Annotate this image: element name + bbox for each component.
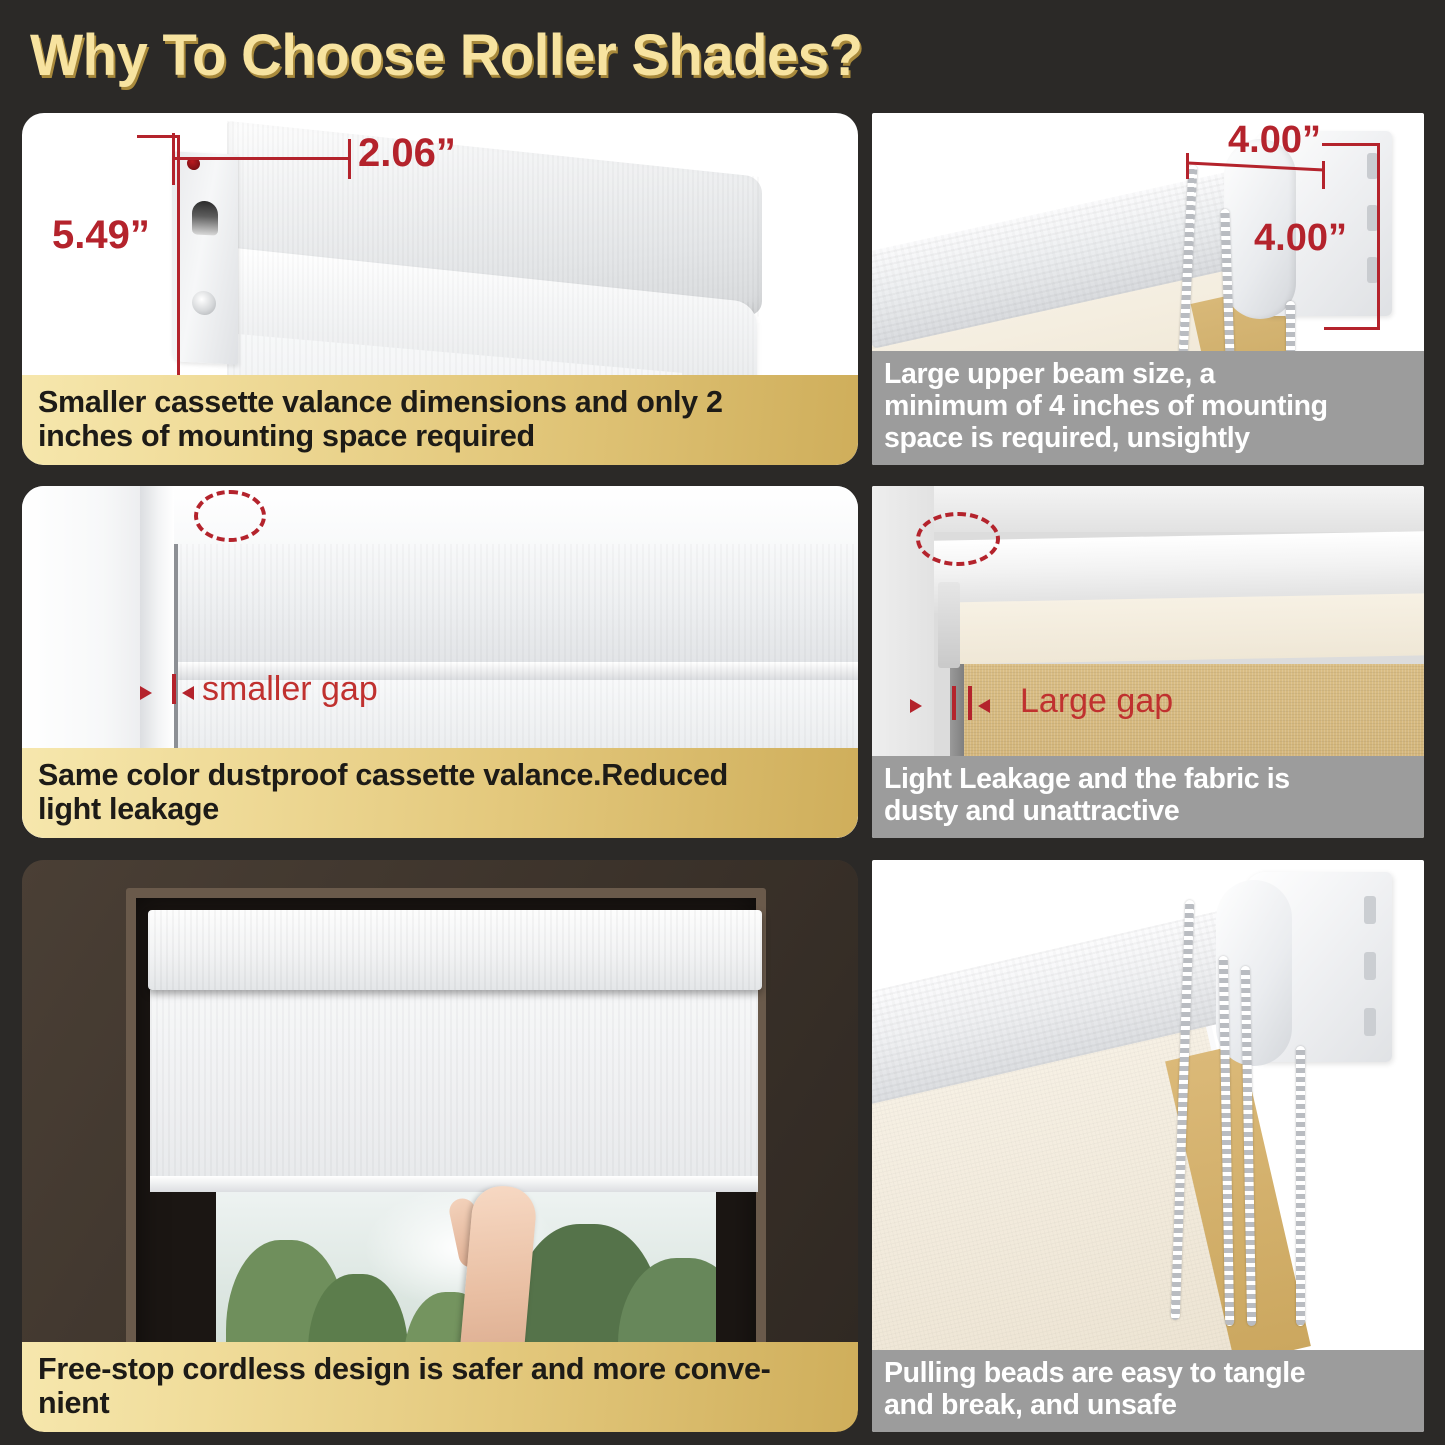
gap-marker: [952, 686, 956, 720]
dim-width-line: [172, 157, 350, 160]
panel-cordless-design[interactable]: Free-stop cordless design is safer and m…: [22, 860, 858, 1432]
panel-5-caption: Free-stop cordless design is safer and m…: [22, 1342, 858, 1432]
valance-end-plate: [172, 151, 238, 364]
panel-2-caption: Large upper beam size, a minimum of 4 in…: [872, 351, 1424, 465]
caption-line: Same color dustproof cassette valance.Re…: [38, 758, 844, 792]
panel-3-caption: Same color dustproof cassette valance.Re…: [22, 748, 858, 838]
valance-screw: [192, 290, 216, 315]
comparison-grid: 2.06” 5.49” Smaller cassette valance dim…: [0, 0, 1445, 1445]
caption-line: Smaller cassette valance dimensions and …: [38, 385, 844, 419]
dim-label-width: 4.00”: [1228, 119, 1321, 162]
bracket-notch-icon: [1364, 896, 1376, 924]
dim-height-line: [1377, 143, 1380, 329]
panel-1-caption: Smaller cassette valance dimensions and …: [22, 375, 858, 465]
panel-dustproof-valance[interactable]: smaller gap Same color dustproof cassett…: [22, 486, 858, 838]
panel-6-image: [872, 860, 1424, 1432]
dim-cap-bottom: [1324, 327, 1380, 330]
bracket-notch-icon: [1364, 952, 1376, 980]
shade-fabric: [150, 990, 758, 1190]
valance-slot: [192, 200, 218, 235]
gap-arrow-left-icon: [140, 686, 152, 700]
panel-6-caption: Pulling beads are easy to tangle and bre…: [872, 1350, 1424, 1432]
caption-line: inches of mounting space required: [38, 419, 844, 453]
shade-cassette-head: [148, 910, 762, 990]
dim-cap-top: [137, 135, 179, 138]
panel-light-leakage[interactable]: Large gap Light Leakage and the fabric i…: [872, 486, 1424, 838]
dim-cap-top: [1322, 143, 1380, 146]
side-bracket: [938, 582, 960, 668]
gap-marker: [968, 686, 972, 720]
highlight-circle-icon: [194, 490, 266, 542]
caption-line: space is required, unsightly: [884, 423, 1414, 455]
dim-label-height: 4.00”: [1254, 217, 1347, 260]
dim-tick-left: [1186, 153, 1189, 179]
panel-smaller-cassette[interactable]: 2.06” 5.49” Smaller cassette valance dim…: [22, 113, 858, 465]
caption-line: and break, and unsafe: [884, 1390, 1414, 1422]
gap-arrow-right-icon: [978, 699, 990, 713]
bracket-notch-icon: [1364, 1008, 1376, 1036]
caption-line: Light Leakage and the fabric is: [884, 764, 1414, 796]
dim-label-width: 2.06”: [358, 131, 456, 176]
panel-pulling-beads[interactable]: Pulling beads are easy to tangle and bre…: [872, 860, 1424, 1432]
caption-line: Pulling beads are easy to tangle: [884, 1358, 1414, 1390]
gap-arrow-right-icon: [182, 686, 194, 700]
caption-line: minimum of 4 inches of mounting: [884, 391, 1414, 423]
shade-slat: [174, 544, 858, 662]
caption-line: dusty and unattractive: [884, 796, 1414, 828]
dim-tick-right: [348, 139, 351, 179]
gap-label: Large gap: [1020, 682, 1173, 721]
panel-large-beam[interactable]: 4.00” 4.00” Large upper beam size, a min…: [872, 113, 1424, 465]
gap-label: smaller gap: [202, 670, 378, 709]
caption-line: light leakage: [38, 792, 844, 826]
gap-marker: [172, 674, 176, 704]
highlight-circle-icon: [916, 512, 1000, 566]
bead-chain-right[interactable]: [1296, 1046, 1305, 1326]
caption-line: Large upper beam size, a: [884, 359, 1414, 391]
gap-arrow-left-icon: [910, 699, 922, 713]
panel-4-caption: Light Leakage and the fabric is dusty an…: [872, 756, 1424, 838]
dim-tick-right: [1322, 161, 1325, 189]
valance-strip: [942, 593, 1424, 664]
caption-line: Free-stop cordless design is safer and m…: [38, 1352, 844, 1386]
shade-bottom-rail: [150, 1176, 758, 1192]
dim-label-height: 5.49”: [52, 213, 150, 258]
caption-line: nient: [38, 1386, 844, 1420]
